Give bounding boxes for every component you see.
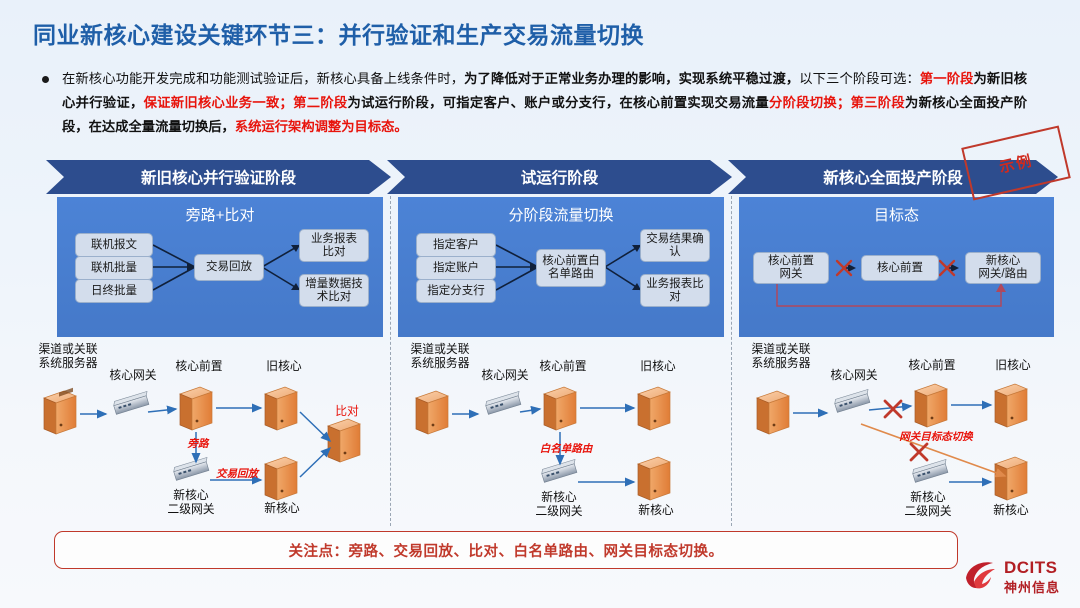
diagram1-label-replay: 交易回放: [208, 467, 266, 481]
paragraph-segment-7: 为试运行阶段，可指定客户、账户或分支行，在核心前置实现交易流量: [348, 95, 769, 110]
panel3-box-front-gw: 核心前置 网关: [753, 252, 829, 284]
panel2-box-in3: 指定分支行: [416, 279, 496, 303]
paragraph-segment-0: 在新核心功能开发完成和功能测试验证后，新核心具备上线条件时，: [62, 71, 464, 86]
server-icon-source: [757, 391, 789, 434]
panel1-box-in2: 联机批量: [75, 256, 153, 280]
diagram2-label-source: 渠道或关联 系统服务器: [400, 342, 480, 370]
bullet-marker: [42, 76, 49, 83]
panel2-box-out2: 业务报表比 对: [640, 274, 710, 307]
paragraph-segment-9: 第三阶段: [850, 95, 905, 110]
paragraph-segment-2: 以下三个阶段可选：: [799, 71, 920, 86]
intro-paragraph: 在新核心功能开发完成和功能测试验证后，新核心具备上线条件时，为了降低对于正常业务…: [62, 67, 1027, 140]
paragraph-segment-11: 系统运行架构调整为目标态。: [235, 119, 408, 134]
server-icon-core-front: [180, 387, 212, 430]
phase-banner-1: 新旧核心并行验证阶段: [46, 160, 391, 194]
panel3-box-front: 核心前置: [861, 255, 939, 281]
diagram3-label-gateway: 核心网关: [819, 368, 889, 382]
flow-panel-2: 分阶段流量切换 指定客户 指定账户 指定分支行 核心前置白 名单路由 交易结果确…: [398, 197, 724, 337]
diagram2-label-new-core: 新核心: [626, 503, 686, 517]
logo-text-en: DCITS: [1004, 558, 1058, 578]
logo-text-cn: 神州信息: [1004, 577, 1060, 596]
diagram2-label-new-gateway: 新核心 二级网关: [524, 490, 594, 518]
diagram2-label-old-core: 旧核心: [628, 359, 688, 373]
flow-panel-1: 旁路+比对 联机报文 联机批量 日终批量 交易回放 业务报表 比对 增量数据技 …: [57, 197, 383, 337]
panel-title-1: 旁路+比对: [57, 204, 383, 225]
diagram3-label-old-core: 旧核心: [983, 358, 1043, 372]
paragraph-segment-3: 第一阶段: [920, 71, 974, 86]
server-icon-compare: [328, 419, 360, 462]
switch-icon-new-core-gateway: [912, 459, 950, 482]
server-icon-core-front: [544, 387, 576, 430]
panel2-box-mid: 核心前置白 名单路由: [536, 249, 606, 287]
server-icon-new-core: [265, 457, 297, 500]
server-icon-old-core: [995, 384, 1027, 427]
diagram1-label-front: 核心前置: [164, 359, 234, 373]
diagram3-label-new-gateway: 新核心 二级网关: [893, 490, 963, 518]
panel1-box-mid: 交易回放: [194, 254, 264, 281]
diagram1-label-new-core: 新核心: [252, 501, 312, 515]
server-icon-core-front: [915, 384, 947, 427]
company-logo: DCITS 神州信息: [962, 556, 1074, 600]
architecture-diagram-1: 渠道或关联 系统服务器 核心网关 核心前置 旧核心 比对 旁路 交易回放 新核心…: [20, 346, 388, 526]
diagram3-label-new-core: 新核心: [981, 503, 1041, 517]
server-icon-source: [416, 391, 448, 434]
diagram1-label-gateway: 核心网关: [98, 368, 168, 382]
phase-banner-2: 试运行阶段: [387, 160, 732, 194]
dcits-mark-icon: [962, 556, 1002, 596]
paragraph-segment-6: 第二阶段: [293, 95, 348, 110]
panel3-box-new-core-gw: 新核心 网关/路由: [965, 252, 1041, 284]
architecture-diagram-3: 渠道或关联 系统服务器 核心网关 核心前置 旧核心 网关目标态切换 新核心 二级…: [733, 346, 1078, 526]
server-icon-old-core: [265, 387, 297, 430]
flow-panel-3: 目标态 核心前置 网关 核心前置 新核心 网关/路由: [739, 197, 1054, 337]
diagram2-label-front: 核心前置: [528, 359, 598, 373]
server-icon-old-core: [638, 387, 670, 430]
switch-icon-core-gateway: [834, 389, 872, 412]
column-divider-2: [731, 196, 732, 526]
panel1-box-in3: 日终批量: [75, 279, 153, 303]
panel2-box-out1: 交易结果确 认: [640, 229, 710, 262]
diagram3-label-switch: 网关目标态切换: [891, 430, 981, 444]
panel-title-3: 目标态: [739, 204, 1054, 225]
page-title: 同业新核心建设关键环节三：并行验证和生产交易流量切换: [33, 16, 644, 50]
slide-root: 同业新核心建设关键环节三：并行验证和生产交易流量切换 在新核心功能开发完成和功能…: [0, 0, 1080, 608]
panel1-box-out1: 业务报表 比对: [299, 229, 369, 262]
paragraph-segment-1: 为了降低对于正常业务办理的影响，实现系统平稳过渡，: [464, 71, 799, 86]
diagram1-label-old-core: 旧核心: [254, 359, 314, 373]
diagram1-label-bypass: 旁路: [178, 437, 218, 451]
switch-icon-new-core-gateway: [173, 457, 211, 480]
footnote-box: 关注点：旁路、交易回放、比对、白名单路由、网关目标态切换。: [54, 531, 958, 569]
panel1-box-out2: 增量数据技 术比对: [299, 274, 369, 307]
switch-icon-core-gateway: [485, 391, 523, 414]
paragraph-segment-8: 分阶段切换；: [769, 95, 850, 110]
server-icon-source: [44, 388, 76, 434]
panel1-box-in1: 联机报文: [75, 233, 153, 257]
paragraph-segment-5: 保证新旧核心业务一致；: [144, 95, 293, 110]
server-icon-new-core: [638, 457, 670, 500]
diagram1-label-new-gateway: 新核心 二级网关: [156, 488, 226, 516]
column-divider-1: [390, 196, 391, 526]
panel2-box-in2: 指定账户: [416, 256, 496, 280]
diagram3-label-front: 核心前置: [897, 358, 967, 372]
panel-title-2: 分阶段流量切换: [398, 204, 724, 225]
diagram1-label-source: 渠道或关联 系统服务器: [28, 342, 108, 370]
diagram3-label-source: 渠道或关联 系统服务器: [741, 342, 821, 370]
switch-icon-core-gateway: [113, 391, 151, 414]
diagram1-label-compare: 比对: [320, 404, 374, 418]
panel2-box-in1: 指定客户: [416, 233, 496, 257]
server-icon-new-core: [995, 457, 1027, 500]
architecture-diagram-2: 渠道或关联 系统服务器 核心网关 核心前置 旧核心 白名单路由 新核心 二级网关…: [392, 346, 732, 526]
diagram2-label-whitelist: 白名单路由: [530, 442, 602, 456]
